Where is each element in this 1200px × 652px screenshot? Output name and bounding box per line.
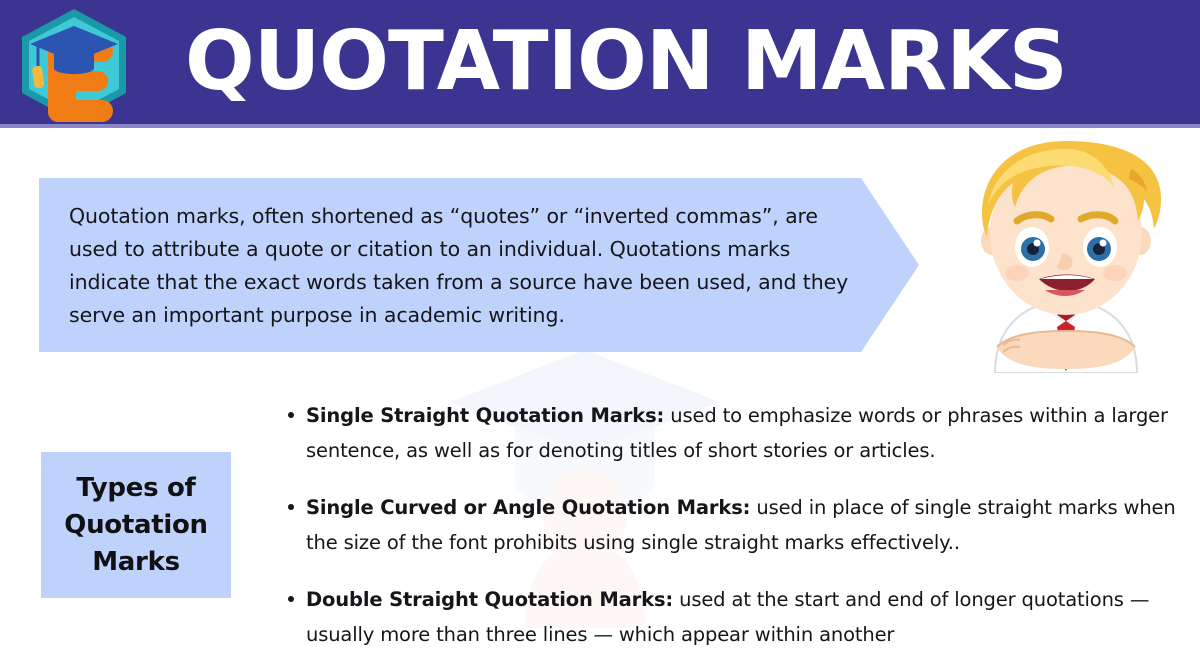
bullet-dot-icon	[288, 596, 294, 602]
types-label-line-2: Quotation	[64, 510, 207, 540]
list-item-term: Single Curved or Angle Quotation Marks:	[306, 496, 750, 519]
bullet-dot-icon	[288, 412, 294, 418]
list-item: Single Curved or Angle Quotation Marks: …	[288, 490, 1188, 560]
bullet-dot-icon	[288, 504, 294, 510]
intro-text: Quotation marks, often shortened as “quo…	[69, 200, 859, 332]
list-item-term: Double Straight Quotation Marks:	[306, 588, 673, 611]
quotation-types-list: Single Straight Quotation Marks: used to…	[288, 398, 1188, 652]
types-of-quotation-marks-box: Types of Quotation Marks	[41, 452, 231, 598]
intro-callout: Quotation marks, often shortened as “quo…	[39, 178, 919, 352]
header-underline	[0, 124, 1200, 128]
list-item: Double Straight Quotation Marks: used at…	[288, 582, 1188, 652]
types-label-line-1: Types of	[76, 473, 195, 503]
types-label: Types of Quotation Marks	[64, 470, 207, 581]
list-item: Single Straight Quotation Marks: used to…	[288, 398, 1188, 468]
types-label-line-3: Marks	[92, 547, 180, 577]
list-item-term: Single Straight Quotation Marks:	[306, 404, 664, 427]
cartoon-schoolboy-illustration	[935, 133, 1197, 373]
graduation-cap-e-logo-icon	[14, 6, 134, 124]
page-header: QUOTATION MARKS	[0, 0, 1200, 124]
page-title: QUOTATION MARKS	[185, 21, 1067, 103]
